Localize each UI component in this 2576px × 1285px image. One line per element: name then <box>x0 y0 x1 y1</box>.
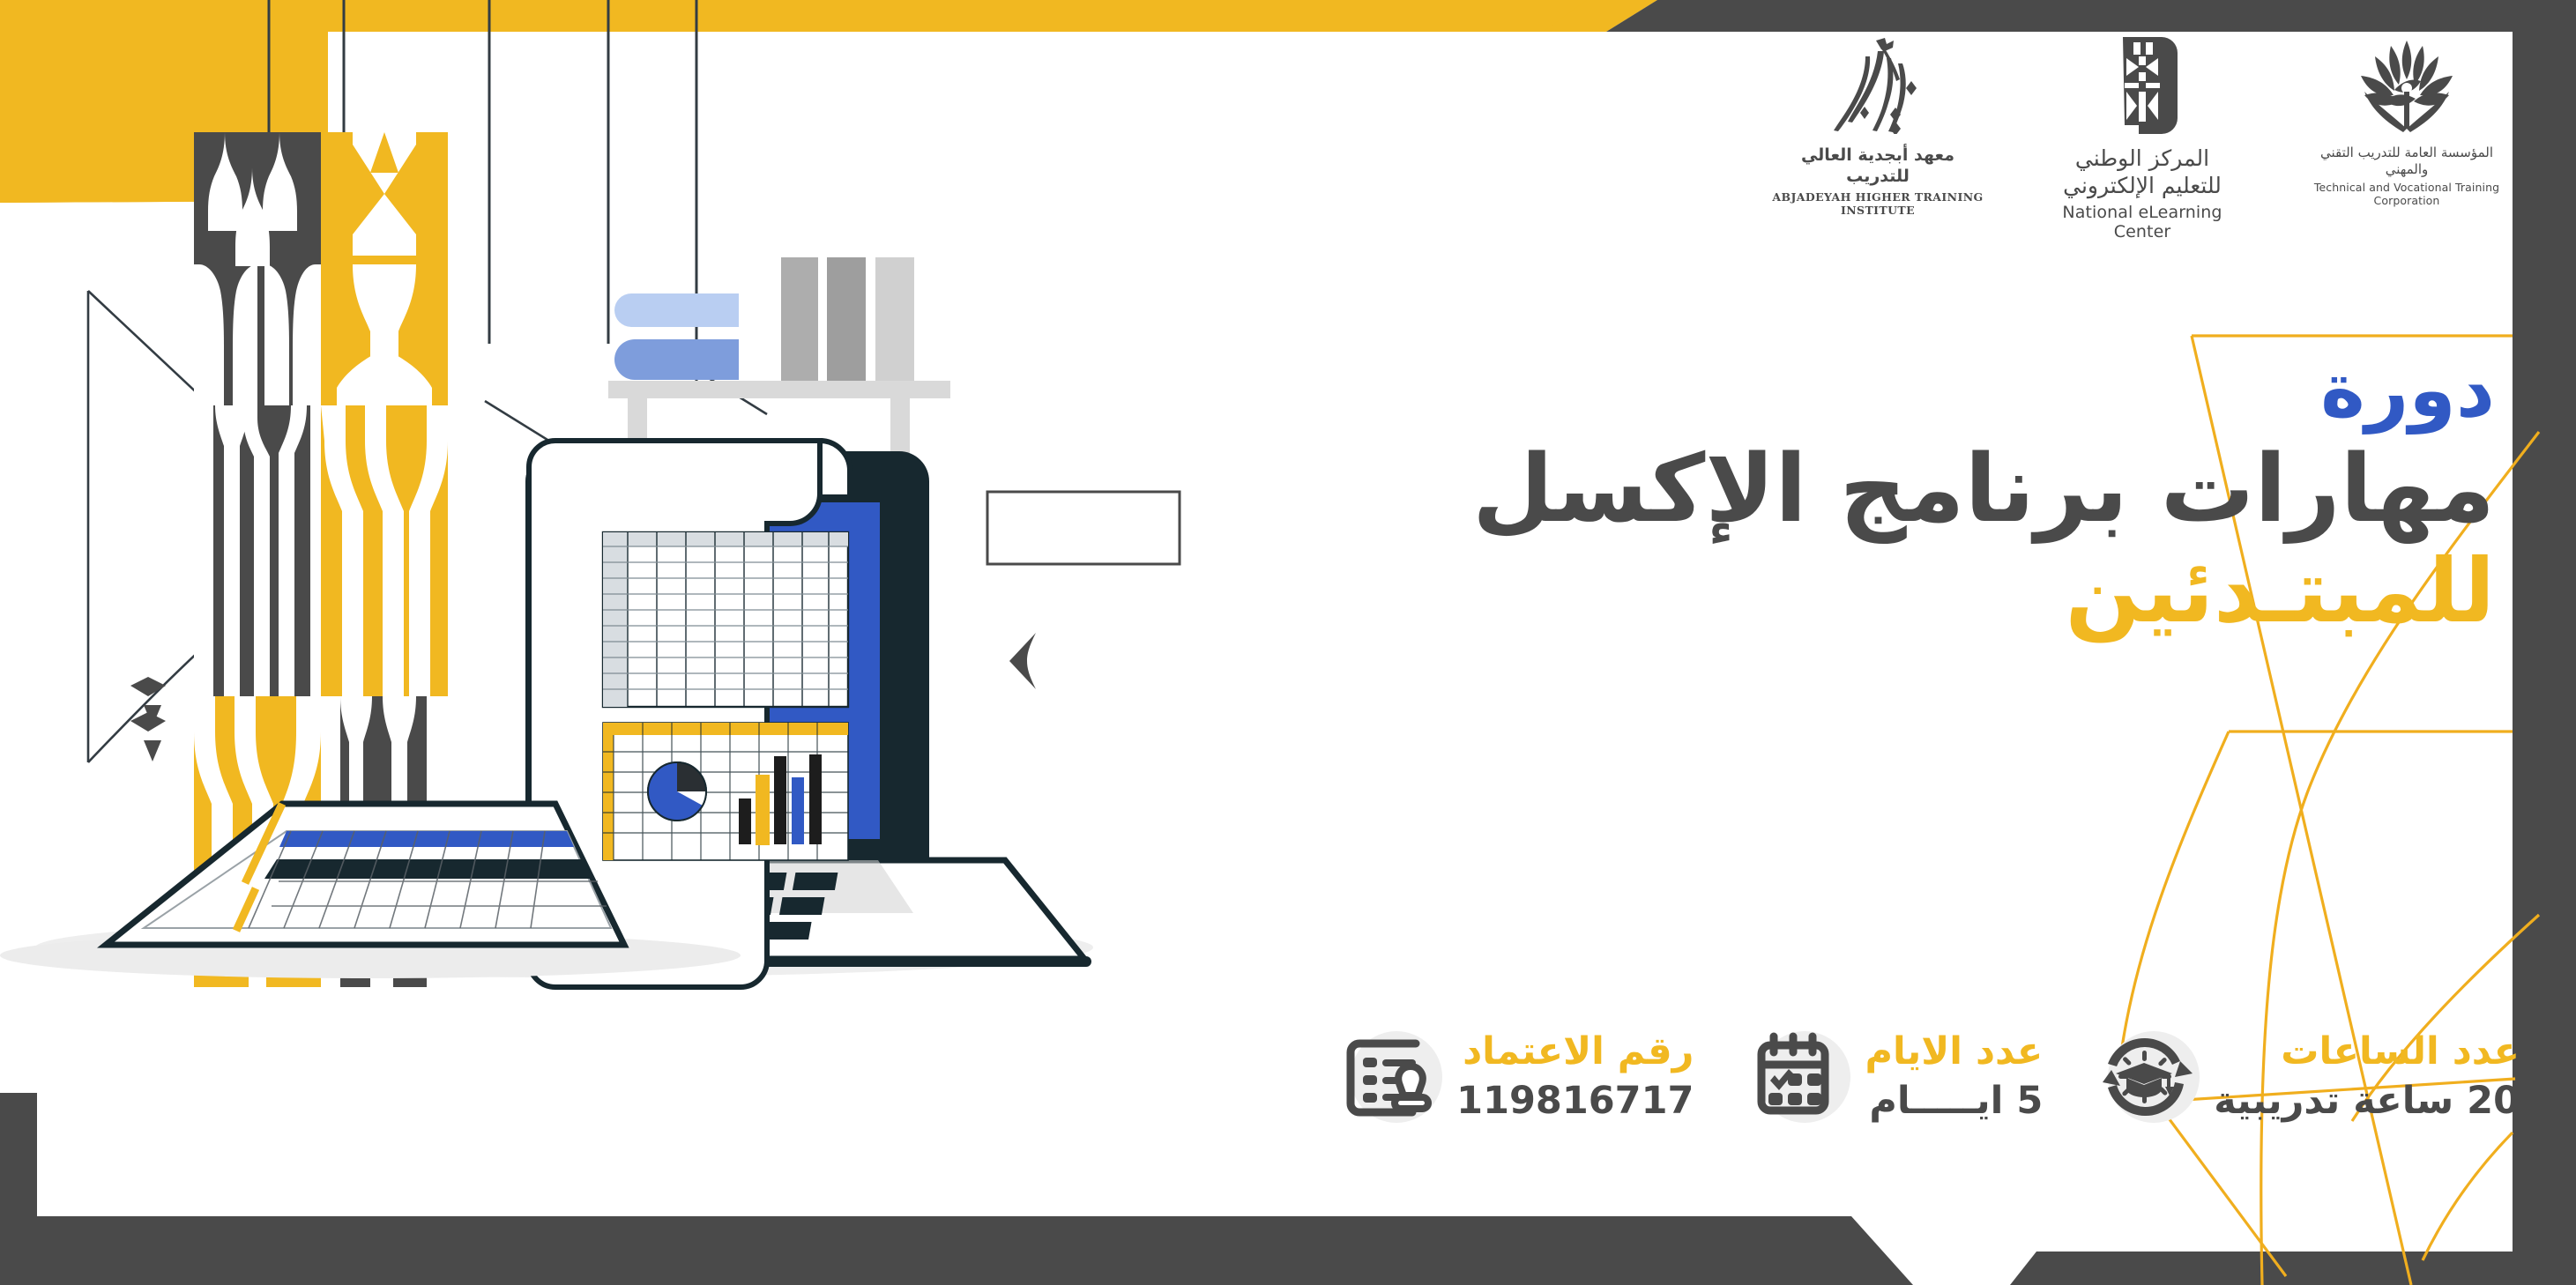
excel-workspace-illustration <box>0 0 1287 1058</box>
book-gray-2 <box>827 257 866 381</box>
logo-caption-en: ABJADEYAH HIGHER TRAINING INSTITUTE <box>1772 190 1984 217</box>
info-text-days: عدد الايام 5 ايـــــام <box>1865 1030 2043 1124</box>
outline-tag-rect <box>987 492 1180 564</box>
sheet-chart-panel <box>603 723 848 860</box>
tvtc-flower-icon <box>2345 37 2468 134</box>
certificate-stamp-icon <box>1331 1019 1448 1135</box>
info-value: 119816717 <box>1456 1079 1694 1124</box>
dark-bottom-band <box>0 1216 1913 1285</box>
info-label: عدد الساعات <box>2214 1030 2520 1073</box>
pattern-block-r2-dark <box>194 405 321 696</box>
yellow-triangle-accent <box>1543 0 1657 32</box>
dark-right-bar-solid <box>2513 32 2576 1252</box>
info-text-hours: عدد الساعات 20 ساعة تدريبية <box>2214 1030 2520 1124</box>
pie-chart-icon <box>648 762 706 821</box>
clock-graduation-icon <box>2088 1019 2205 1135</box>
nelc-monolith-icon <box>2107 37 2178 134</box>
shelf-leg-right <box>890 398 910 453</box>
bookshelf-group <box>608 257 950 453</box>
headline-block: دورة مهارات برنامج الإكسل للمبتـدئين <box>1349 353 2495 640</box>
logo-caption-ar: المؤسسة العامة للتدريب التقني والمهني <box>2301 145 2513 178</box>
info-item-accreditation: رقم الاعتماد 119816717 <box>1331 1019 1694 1135</box>
course-info-strip: رقم الاعتماد 119816717 <box>1331 1019 2520 1135</box>
dark-left-bar <box>0 1093 37 1285</box>
info-item-days: عدد الايام 5 ايـــــام <box>1739 1019 2043 1135</box>
book-blue-light-sq <box>670 293 739 327</box>
dark-bottom-band-right <box>2010 1252 2576 1285</box>
pattern-block-r1-yellow <box>321 132 448 405</box>
logo-nelc: المركز الوطني للتعليم الإلكتروني Nationa… <box>2036 37 2248 242</box>
logo-tvtc: المؤسسة العامة للتدريب التقني والمهني Te… <box>2301 37 2513 207</box>
headline-subtitle: للمبتـدئين <box>1349 543 2495 640</box>
info-value: 5 ايـــــام <box>1865 1079 2043 1124</box>
logo-caption-en: National eLearning Center <box>2036 203 2248 243</box>
chevron-mark-icon <box>1009 633 1036 689</box>
sheet-table-upper <box>603 532 848 707</box>
book-gray-3 <box>875 257 914 381</box>
headline-kicker: دورة <box>1349 353 2495 430</box>
headline-title: مهارات برنامج الإكسل <box>1349 437 2495 542</box>
calligraphy-mark-icon <box>1825 37 1931 134</box>
book-gray-1 <box>781 257 818 381</box>
dark-top-band <box>1606 0 2576 32</box>
partner-logos: معهد أبجدية العالي للتدريب ABJADEYAH HIG… <box>1772 37 2513 242</box>
calendar-check-icon <box>1739 1019 1856 1135</box>
info-text-accreditation: رقم الاعتماد 119816717 <box>1456 1030 1694 1124</box>
logo-abjadeyah: معهد أبجدية العالي للتدريب ABJADEYAH HIG… <box>1772 37 1984 217</box>
logo-caption-ar: المركز الوطني للتعليم الإلكتروني <box>2063 145 2222 200</box>
info-label: رقم الاعتماد <box>1456 1030 1694 1073</box>
book-blue-sq <box>670 339 739 380</box>
pattern-block-r1-dark <box>194 132 321 405</box>
pattern-block-r2-yellow <box>321 405 448 696</box>
info-item-hours: عدد الساعات 20 ساعة تدريبية <box>2088 1019 2520 1135</box>
logo-caption-en: Technical and Vocational Training Corpor… <box>2301 181 2513 207</box>
shelf-board <box>608 381 950 398</box>
logo-caption-ar: معهد أبجدية العالي للتدريب <box>1772 145 1984 188</box>
course-promo-banner: معهد أبجدية العالي للتدريب ABJADEYAH HIG… <box>0 0 2576 1285</box>
info-label: عدد الايام <box>1865 1030 2043 1073</box>
info-value: 20 ساعة تدريبية <box>2214 1079 2520 1124</box>
dark-right-bar <box>2513 0 2576 1285</box>
